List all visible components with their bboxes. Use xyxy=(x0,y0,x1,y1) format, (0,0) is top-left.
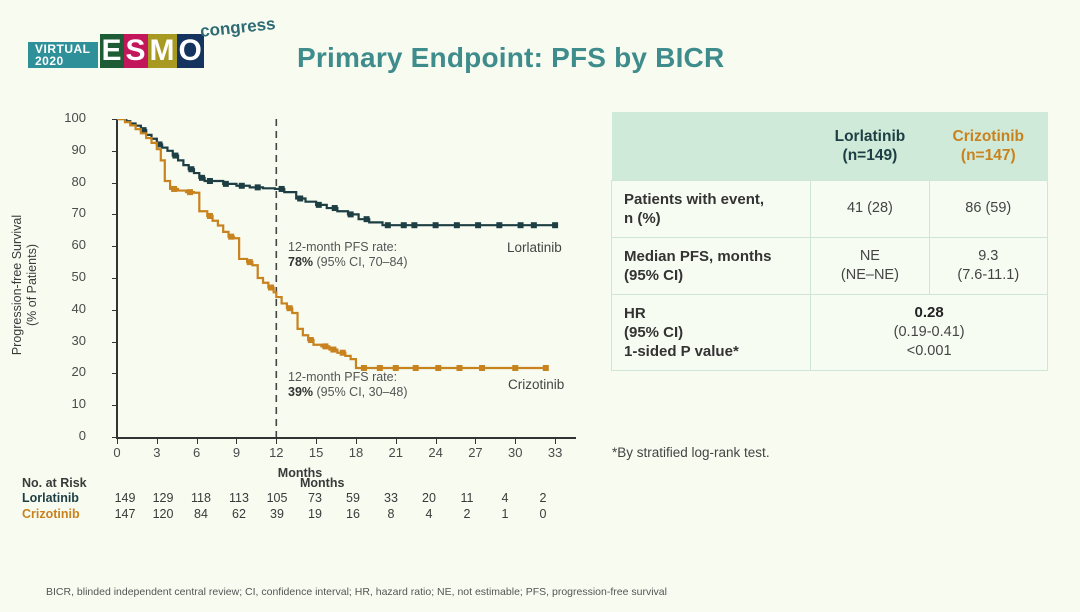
x-tick-18: 18 xyxy=(341,445,371,460)
censor-mark-crizotinib xyxy=(457,365,463,371)
header-crizotinib: Crizotinib (n=147) xyxy=(929,112,1047,180)
censor-mark-crizotinib xyxy=(479,365,485,371)
x-tickmark-15 xyxy=(316,439,317,444)
x-tickmark-18 xyxy=(356,439,357,444)
number-at-risk-table: No. at Risk Lorlatinib149129118113105735… xyxy=(22,476,602,522)
x-tick-30: 30 xyxy=(500,445,530,460)
header-lorlatinib-n: (n=149) xyxy=(812,146,928,165)
censor-mark-lorlatinib xyxy=(207,178,213,184)
censor-mark-lorlatinib xyxy=(454,222,460,228)
table-footnote: *By stratified log-rank test. xyxy=(612,445,770,460)
results-table: Lorlatinib (n=149) Crizotinib (n=147) Pa… xyxy=(611,112,1048,371)
esmo-letter-s: S xyxy=(124,34,148,68)
esmo-wordmark: E S M O congress xyxy=(100,34,204,68)
x-tickmark-12 xyxy=(276,439,277,444)
censor-mark-lorlatinib xyxy=(518,222,524,228)
annotation-label: 12-month PFS rate: xyxy=(288,370,408,385)
cell-patients-with-event-crizotinib: 86 (59) xyxy=(929,180,1047,237)
risk-value: 120 xyxy=(144,506,182,522)
x-tickmark-0 xyxy=(117,439,118,444)
cell-hr-ci: (0.19-0.41) xyxy=(815,323,1043,342)
y-tick-20: 20 xyxy=(60,364,86,379)
y-tick-0: 0 xyxy=(60,428,86,443)
y-tick-90: 90 xyxy=(60,142,86,157)
risk-value: 129 xyxy=(144,490,182,506)
censor-mark-lorlatinib xyxy=(348,211,354,217)
risk-value: 11 xyxy=(448,490,486,506)
page-title: Primary Endpoint: PFS by BICR xyxy=(297,42,724,74)
virtual-2020-badge: VIRTUAL 2020 xyxy=(28,42,98,68)
y-tick-100: 100 xyxy=(60,110,86,125)
y-axis-title-line1: Progression-free Survival xyxy=(10,155,25,415)
cell-hr-pvalue: <0.001 xyxy=(815,342,1043,361)
censor-mark-lorlatinib xyxy=(531,222,537,228)
censor-mark-lorlatinib xyxy=(199,175,205,181)
header-crizotinib-n: (n=147) xyxy=(930,146,1046,165)
y-axis-title-line2: (% of Patients) xyxy=(25,155,40,415)
risk-value: 0 xyxy=(524,506,562,522)
table-row: HR (95% CI) 1-sided P value* 0.28 (0.19-… xyxy=(612,294,1048,370)
year-label: 2020 xyxy=(35,55,91,67)
x-tick-15: 15 xyxy=(301,445,331,460)
risk-value: 33 xyxy=(372,490,410,506)
censor-mark-crizotinib xyxy=(171,186,177,192)
censor-mark-crizotinib xyxy=(322,343,328,349)
y-axis-title: Progression-free Survival (% of Patients… xyxy=(10,155,40,415)
y-tick-80: 80 xyxy=(60,174,86,189)
risk-value: 62 xyxy=(220,506,258,522)
censor-mark-lorlatinib xyxy=(433,222,439,228)
esmo-letter-m: M xyxy=(148,34,177,68)
annotation-label: 12-month PFS rate: xyxy=(288,240,408,255)
x-tick-0: 0 xyxy=(102,445,132,460)
y-axis-tick-labels: 0102030405060708090100 xyxy=(56,100,86,440)
x-axis-line xyxy=(116,437,576,439)
y-tick-50: 50 xyxy=(60,269,86,284)
x-tickmark-21 xyxy=(396,439,397,444)
row-label-line1: HR xyxy=(624,304,810,323)
censor-mark-crizotinib xyxy=(543,365,549,371)
censor-mark-lorlatinib xyxy=(316,202,322,208)
row-label-line2: (95% CI) xyxy=(624,266,810,285)
censor-mark-crizotinib xyxy=(247,259,253,265)
cell-hr-combined: 0.28 (0.19-0.41) <0.001 xyxy=(811,294,1048,370)
censor-mark-crizotinib xyxy=(435,365,441,371)
risk-value: 4 xyxy=(486,490,524,506)
x-tick-33: 33 xyxy=(540,445,570,460)
censor-mark-lorlatinib xyxy=(279,186,285,192)
esmo-letter-o: O xyxy=(177,34,204,68)
table-row: Patients with event, n (%) 41 (28) 86 (5… xyxy=(612,180,1048,237)
risk-row-label: Crizotinib xyxy=(22,506,106,522)
x-tickmark-27 xyxy=(475,439,476,444)
x-tick-24: 24 xyxy=(421,445,451,460)
x-tick-9: 9 xyxy=(221,445,251,460)
risk-table-grid: Lorlatinib149129118113105735933201142Cri… xyxy=(22,490,562,522)
annotation-value: 39% xyxy=(288,385,313,399)
annotation-ci: (95% CI, 70–84) xyxy=(317,255,408,269)
risk-value: 105 xyxy=(258,490,296,506)
header-lorlatinib-name: Lorlatinib xyxy=(812,127,928,146)
risk-value: 2 xyxy=(448,506,486,522)
annotation-ci: (95% CI, 30–48) xyxy=(317,385,408,399)
header-lorlatinib: Lorlatinib (n=149) xyxy=(811,112,929,180)
cell-hr-value: 0.28 xyxy=(915,304,944,321)
cell-line2: (7.6-11.1) xyxy=(934,266,1043,285)
censor-mark-lorlatinib xyxy=(188,166,194,172)
risk-value: 20 xyxy=(410,490,448,506)
curve-label-crizotinib: Crizotinib xyxy=(508,377,564,392)
y-tick-40: 40 xyxy=(60,301,86,316)
x-tickmark-3 xyxy=(157,439,158,444)
header-blank-cell xyxy=(612,112,811,180)
x-tick-6: 6 xyxy=(182,445,212,460)
esmo-logo: VIRTUAL 2020 E S M O congress xyxy=(28,24,204,68)
row-label-median-pfs: Median PFS, months (95% CI) xyxy=(612,237,811,294)
censor-mark-crizotinib xyxy=(340,350,346,356)
censor-mark-lorlatinib xyxy=(411,222,417,228)
censor-mark-crizotinib xyxy=(512,365,518,371)
risk-value: 118 xyxy=(182,490,220,506)
risk-value: 147 xyxy=(106,506,144,522)
risk-value: 8 xyxy=(372,506,410,522)
annotation-lorlatinib-12mo: 12-month PFS rate: 78% (95% CI, 70–84) xyxy=(288,240,408,270)
risk-value: 4 xyxy=(410,506,448,522)
y-tick-10: 10 xyxy=(60,396,86,411)
censor-mark-lorlatinib xyxy=(255,184,261,190)
censor-mark-crizotinib xyxy=(268,285,274,291)
table-header-row: Lorlatinib (n=149) Crizotinib (n=147) xyxy=(612,112,1048,180)
x-tickmark-30 xyxy=(515,439,516,444)
cell-line2: (NE–NE) xyxy=(815,266,924,285)
risk-row: Lorlatinib149129118113105735933201142 xyxy=(22,490,562,506)
cell-median-pfs-lorlatinib: NE (NE–NE) xyxy=(811,237,929,294)
table-row: Median PFS, months (95% CI) NE (NE–NE) 9… xyxy=(612,237,1048,294)
censor-mark-lorlatinib xyxy=(475,222,481,228)
risk-value: 73 xyxy=(296,490,334,506)
cell-median-pfs-crizotinib: 9.3 (7.6-11.1) xyxy=(929,237,1047,294)
abbreviations-note: BICR, blinded independent central review… xyxy=(46,586,667,598)
risk-value: 84 xyxy=(182,506,220,522)
censor-mark-lorlatinib xyxy=(223,181,229,187)
risk-row-label: Lorlatinib xyxy=(22,490,106,506)
y-tick-60: 60 xyxy=(60,237,86,252)
censor-mark-lorlatinib xyxy=(364,216,370,222)
header-crizotinib-name: Crizotinib xyxy=(930,127,1046,146)
censor-mark-lorlatinib xyxy=(297,196,303,202)
curve-label-lorlatinib: Lorlatinib xyxy=(507,240,562,255)
risk-value: 1 xyxy=(486,506,524,522)
risk-value: 113 xyxy=(220,490,258,506)
censor-mark-crizotinib xyxy=(187,189,193,195)
x-tick-21: 21 xyxy=(381,445,411,460)
row-label-line2: n (%) xyxy=(624,209,810,228)
risk-value: 16 xyxy=(334,506,372,522)
censor-mark-lorlatinib xyxy=(332,205,338,211)
risk-value: 19 xyxy=(296,506,334,522)
censor-mark-lorlatinib xyxy=(172,153,178,159)
slide-header: VIRTUAL 2020 E S M O congress Primary En… xyxy=(0,0,1080,100)
risk-value: 2 xyxy=(524,490,562,506)
x-tick-12: 12 xyxy=(261,445,291,460)
annotation-crizotinib-12mo: 12-month PFS rate: 39% (95% CI, 30–48) xyxy=(288,370,408,400)
cell-patients-with-event-lorlatinib: 41 (28) xyxy=(811,180,929,237)
x-tickmark-9 xyxy=(236,439,237,444)
censor-mark-crizotinib xyxy=(413,365,419,371)
row-label-patients-with-event: Patients with event, n (%) xyxy=(612,180,811,237)
kaplan-meier-chart: Progression-free Survival (% of Patients… xyxy=(0,100,600,520)
x-tickmark-6 xyxy=(197,439,198,444)
cell-line1: 9.3 xyxy=(934,247,1043,266)
annotation-value: 78% xyxy=(288,255,313,269)
row-label-hr: HR (95% CI) 1-sided P value* xyxy=(612,294,811,370)
risk-table-title: No. at Risk xyxy=(22,476,602,490)
censor-mark-crizotinib xyxy=(228,234,234,240)
cell-line1: NE xyxy=(815,247,924,266)
censor-mark-crizotinib xyxy=(207,213,213,219)
row-label-line1: Median PFS, months xyxy=(624,247,810,266)
row-label-line1: Patients with event, xyxy=(624,190,810,209)
x-tickmark-33 xyxy=(555,439,556,444)
censor-mark-crizotinib xyxy=(330,347,336,353)
row-label-line3: 1-sided P value* xyxy=(624,342,810,361)
x-tick-3: 3 xyxy=(142,445,172,460)
y-tick-30: 30 xyxy=(60,333,86,348)
x-tickmark-24 xyxy=(436,439,437,444)
censor-mark-crizotinib xyxy=(308,337,314,343)
censor-mark-lorlatinib xyxy=(552,222,558,228)
censor-mark-lorlatinib xyxy=(239,183,245,189)
censor-mark-lorlatinib xyxy=(496,222,502,228)
censor-mark-lorlatinib xyxy=(401,222,407,228)
risk-value: 59 xyxy=(334,490,372,506)
risk-row: Crizotinib147120846239191684210 xyxy=(22,506,562,522)
congress-label: congress xyxy=(199,14,276,42)
risk-value: 39 xyxy=(258,506,296,522)
row-label-line2: (95% CI) xyxy=(624,323,810,342)
censor-mark-lorlatinib xyxy=(385,222,391,228)
risk-value: 149 xyxy=(106,490,144,506)
y-tick-70: 70 xyxy=(60,205,86,220)
esmo-letter-e: E xyxy=(100,34,124,68)
x-tick-27: 27 xyxy=(460,445,490,460)
censor-mark-crizotinib xyxy=(287,305,293,311)
